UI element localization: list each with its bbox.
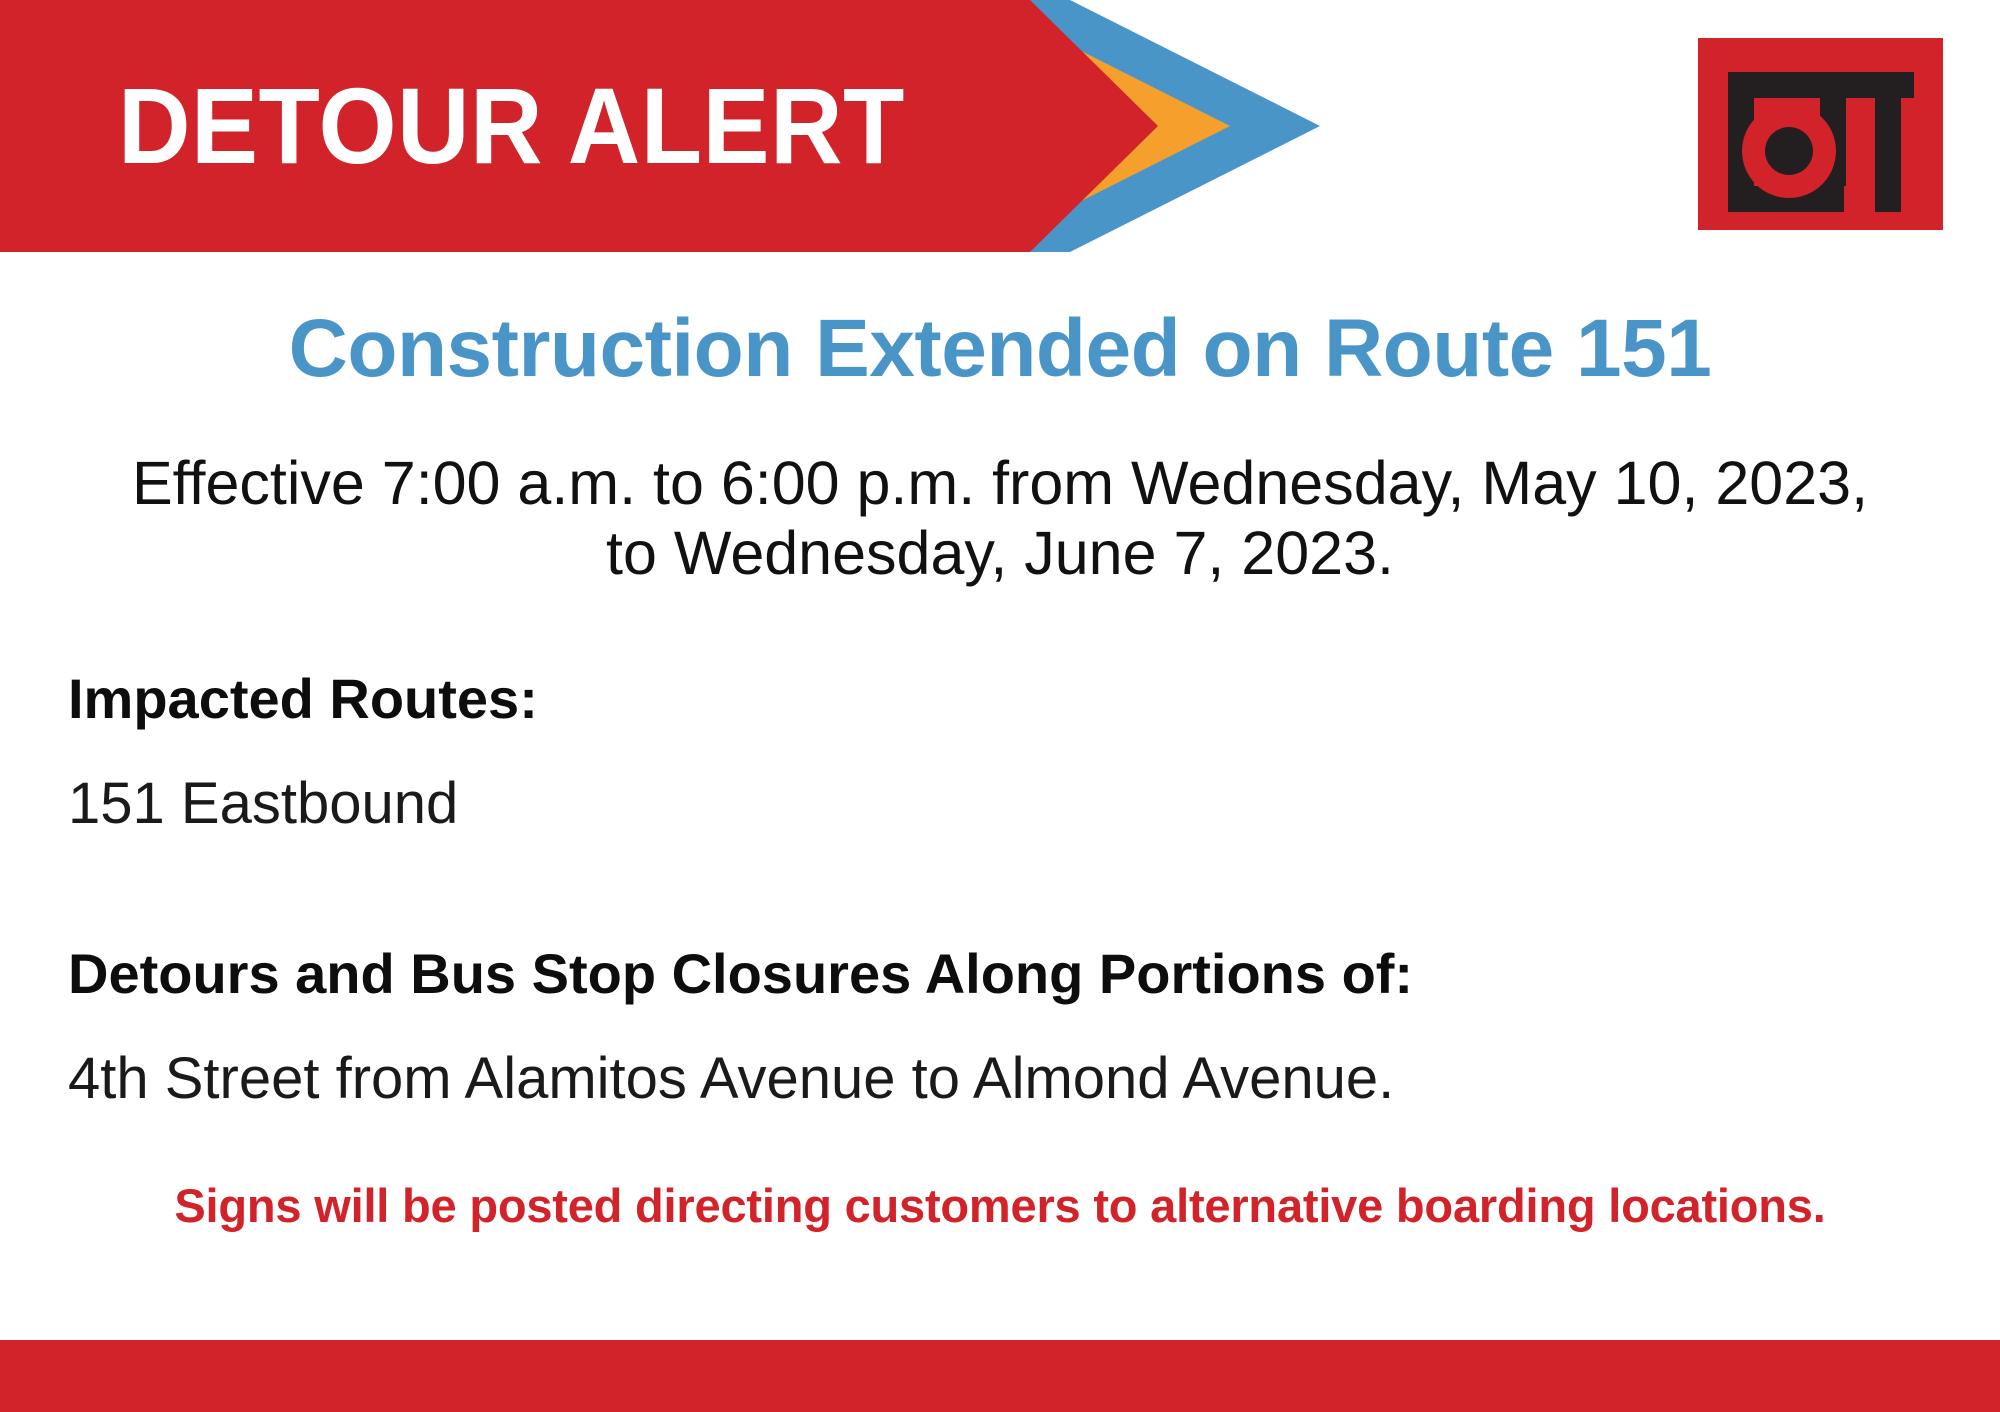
details-block: Impacted Routes: 151 Eastbound Detours a… [68, 668, 1938, 1111]
spacer [68, 730, 1938, 772]
footer-bar [0, 1340, 2000, 1412]
signage-notice: Signs will be posted directing customers… [0, 1180, 2000, 1232]
page-title: Construction Extended on Route 151 [0, 306, 2000, 392]
effective-line-2: to Wednesday, June 7, 2023. [60, 518, 1940, 588]
detours-closures-label: Detours and Bus Stop Closures Along Port… [68, 943, 1938, 1005]
spacer [68, 835, 1938, 943]
effective-line-1: Effective 7:00 a.m. to 6:00 p.m. from We… [132, 449, 1868, 517]
detour-alert-poster: DETOUR ALERT Construction Extended on Ro… [0, 0, 2000, 1412]
impacted-routes-value: 151 Eastbound [68, 772, 1938, 836]
lbt-logo-icon [1698, 38, 1943, 230]
effective-dates: Effective 7:00 a.m. to 6:00 p.m. from We… [60, 448, 1940, 588]
impacted-routes-label: Impacted Routes: [68, 668, 1938, 730]
banner-title: DETOUR ALERT [118, 56, 1011, 196]
detours-closures-value: 4th Street from Alamitos Avenue to Almon… [68, 1047, 1938, 1111]
lbt-logo [1698, 38, 1943, 230]
spacer [68, 1005, 1938, 1047]
